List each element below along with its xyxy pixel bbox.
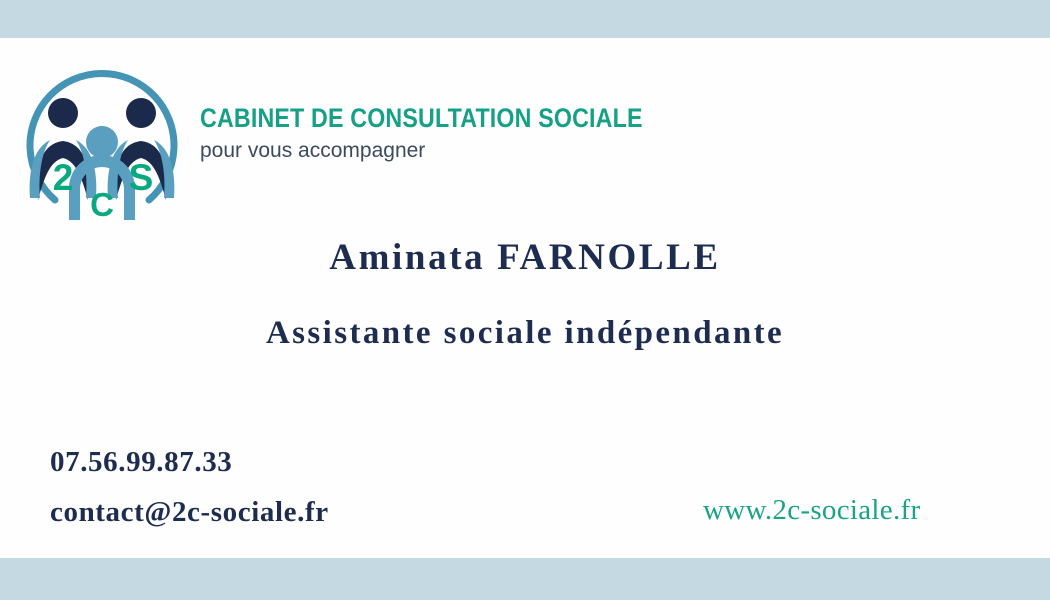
person-name: Aminata FARNOLLE (0, 236, 1050, 280)
logo-title: CABINET DE CONSULTATION SOCIALE (200, 104, 643, 132)
business-card: 2 S C CABINET DE CONSULTATION SOCIALE po… (0, 0, 1050, 600)
email-address[interactable]: contact@2c-sociale.fr (50, 498, 329, 527)
bottom-accent-band (0, 558, 1050, 600)
phone-number[interactable]: 07.56.99.87.33 (50, 448, 329, 477)
logo-tagline: pour vous accompagner (200, 139, 715, 162)
contact-block: 07.56.99.87.33 contact@2c-sociale.fr (50, 448, 329, 527)
svg-text:S: S (129, 157, 154, 198)
top-accent-band (0, 0, 1050, 38)
person-role: Assistante sociale indépendante (0, 314, 1050, 354)
svg-text:C: C (90, 186, 114, 223)
2cs-people-circle-logo-icon: 2 S C (14, 48, 190, 224)
identity-block: Aminata FARNOLLE Assistante sociale indé… (0, 236, 1050, 354)
svg-text:2: 2 (53, 157, 74, 198)
logo-lockup: 2 S C CABINET DE CONSULTATION SOCIALE po… (14, 48, 715, 224)
logo-wordmark: CABINET DE CONSULTATION SOCIALE pour vou… (200, 104, 715, 168)
website-url[interactable]: www.2c-sociale.fr (703, 494, 920, 527)
